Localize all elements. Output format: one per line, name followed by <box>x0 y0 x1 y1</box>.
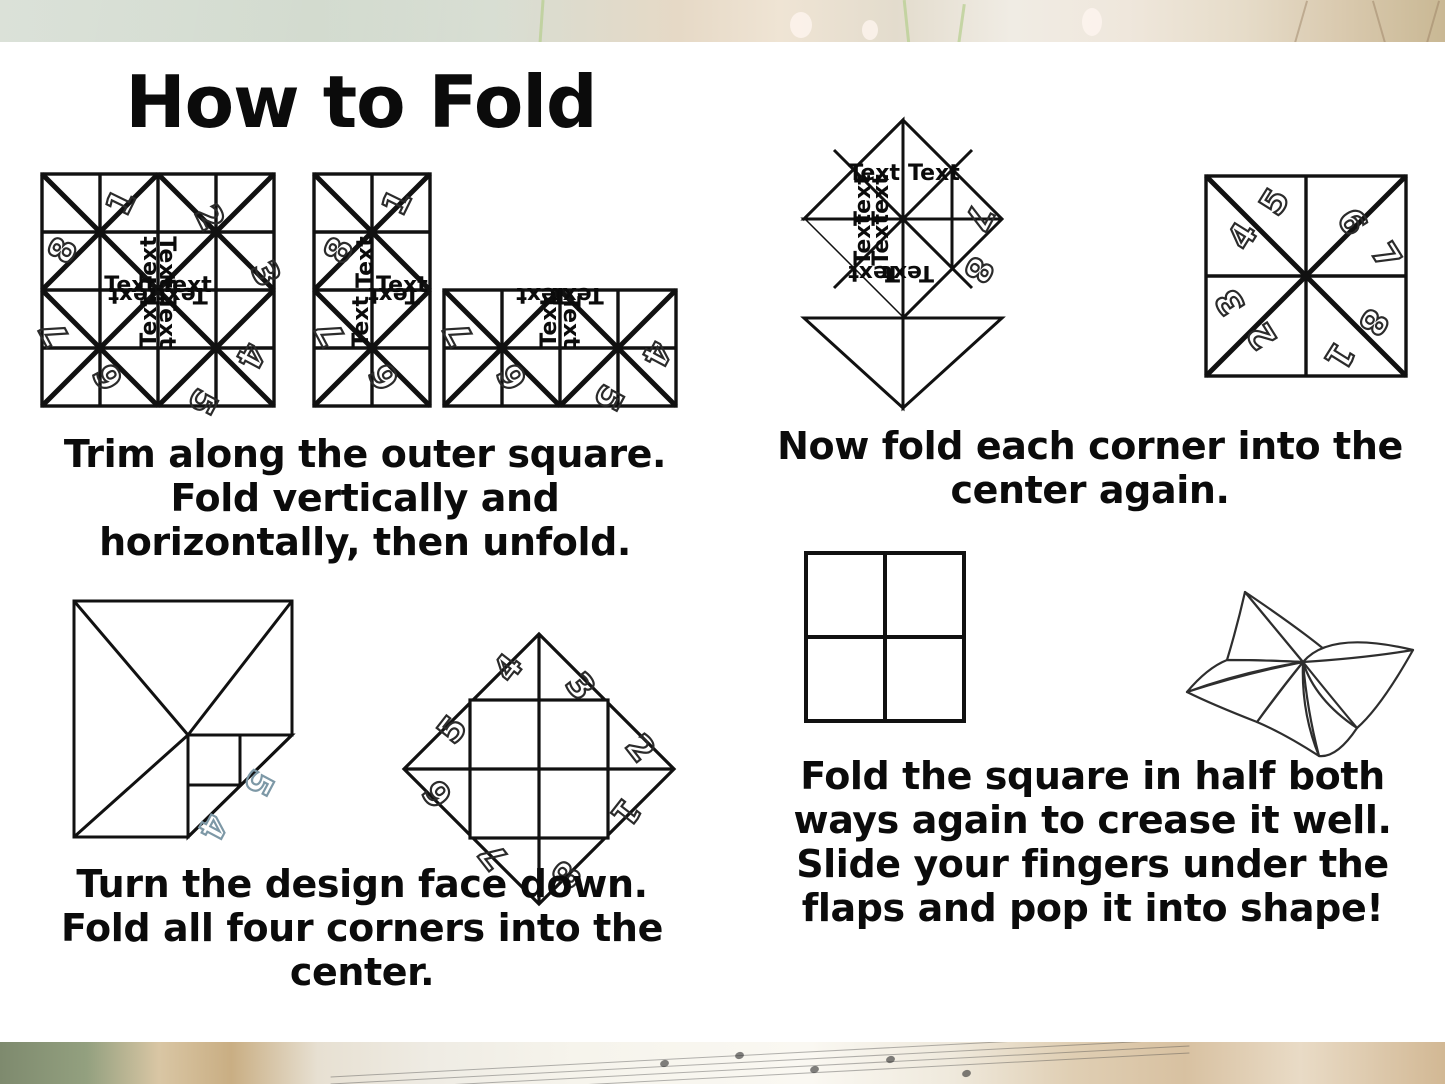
step-4-caption-line-1: Fold the square in half both <box>745 754 1440 798</box>
flower-icon <box>1082 8 1102 36</box>
svg-text:Text: Text <box>851 174 876 226</box>
step-1-caption: Trim along the outer square. Fold vertic… <box>20 432 710 564</box>
flower-icon <box>790 12 812 38</box>
step-1-caption-line-2: Fold vertically and <box>20 476 710 520</box>
figure-star <box>1185 532 1415 757</box>
figure-corner-fold-square: 5 4 <box>68 595 308 843</box>
figure-flat-grid-sequence: 1 2 3 4 5 6 7 8 1 8 7 6 7 6 5 4 <box>38 170 688 415</box>
step-3-caption-line-2: Fold all four corners into the <box>12 906 712 950</box>
svg-text:Text: Text <box>108 282 160 307</box>
svg-text:Text: Text <box>154 236 179 288</box>
step-3-caption-line-3: center. <box>12 950 712 994</box>
top-border-image <box>0 0 1445 44</box>
step-2-caption: Now fold each corner into the center aga… <box>745 424 1435 512</box>
flower-icon <box>862 20 878 40</box>
step-4-caption-line-2: ways again to crease it well. <box>745 798 1440 842</box>
step-4-caption-line-4: flaps and pop it into shape! <box>745 886 1440 930</box>
figure-diamond-with-text: 7 8 Text Text Text Text Text Text Text T… <box>748 114 1008 414</box>
corner-fold-outline <box>74 601 292 837</box>
top-decorative-border <box>0 0 1445 44</box>
instruction-card: How to Fold <box>0 42 1445 1042</box>
figure-numbered-square: 5 4 6 7 3 2 8 1 <box>1200 170 1416 386</box>
page-title: How to Fold <box>0 60 722 144</box>
step-4-caption-line-3: Slide your fingers under the <box>745 842 1440 886</box>
step-3-caption: Turn the design face down. Fold all four… <box>12 862 712 994</box>
svg-text:Text: Text <box>908 161 960 186</box>
step-3-caption-line-1: Turn the design face down. <box>12 862 712 906</box>
svg-text:Text: Text <box>516 282 568 307</box>
figure-quad-square <box>800 547 972 729</box>
bottom-decorative-border <box>0 1042 1445 1084</box>
svg-text:Text: Text <box>353 236 378 288</box>
svg-text:Text: Text <box>882 260 934 285</box>
step-4-caption: Fold the square in half both ways again … <box>745 754 1440 930</box>
svg-text:Text: Text <box>368 282 420 307</box>
step-2-caption-line-2: center again. <box>745 468 1435 512</box>
step-2-caption-line-1: Now fold each corner into the <box>745 424 1435 468</box>
step-1-caption-line-1: Trim along the outer square. <box>20 432 710 476</box>
step-1-caption-line-3: horizontally, then unfold. <box>20 520 710 564</box>
svg-text:Text: Text <box>156 282 208 307</box>
